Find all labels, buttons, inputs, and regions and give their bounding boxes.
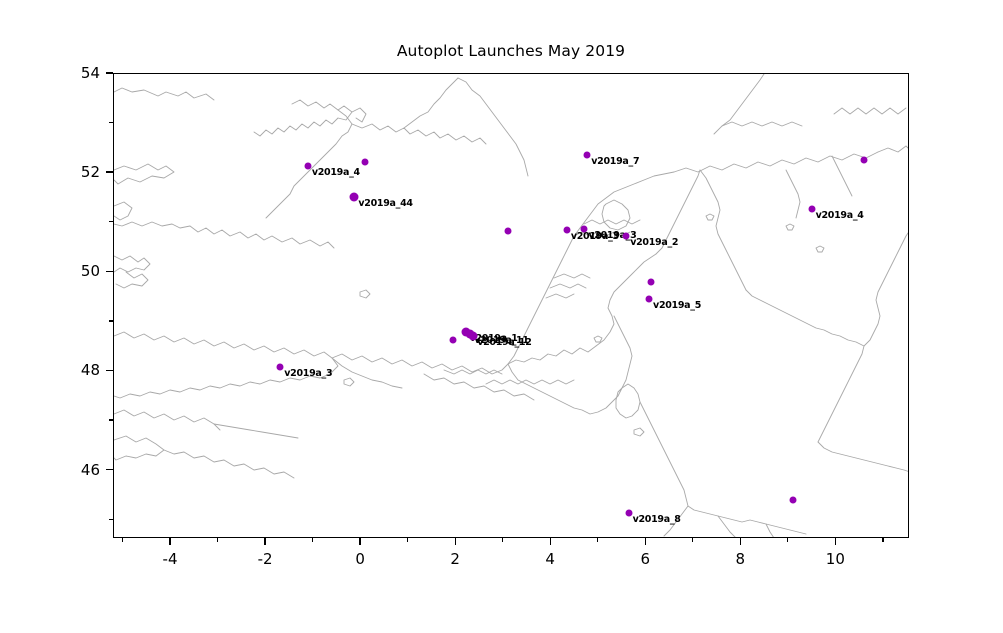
x-tick-minor (217, 538, 218, 542)
x-tick-minor (122, 538, 123, 542)
x-tick-major (550, 538, 551, 545)
x-tick-minor (407, 538, 408, 542)
x-tick-major (169, 538, 170, 545)
data-point-label: v2019a_44 (358, 198, 412, 209)
x-tick-major (645, 538, 646, 545)
y-tick-label: 48 (81, 361, 100, 379)
x-tick-label: 8 (736, 550, 746, 568)
y-tick-label: 52 (81, 163, 100, 181)
data-point-label: v2019a_8 (633, 514, 681, 525)
y-tick-label: 54 (81, 64, 100, 82)
y-tick-minor (109, 122, 113, 123)
y-tick-minor (109, 221, 113, 222)
x-tick-label: -4 (163, 550, 178, 568)
data-point-marker[interactable] (808, 206, 815, 213)
x-tick-label: 2 (450, 550, 460, 568)
data-point-marker[interactable] (860, 156, 867, 163)
data-point-marker[interactable] (623, 232, 630, 239)
data-point-label: v2019a_2 (630, 237, 678, 248)
x-tick-minor (787, 538, 788, 542)
data-point-marker[interactable] (505, 227, 512, 234)
figure-canvas: Autoplot Launches May 2019 (0, 0, 1003, 633)
y-tick-minor (109, 519, 113, 520)
x-tick-major (359, 538, 360, 545)
page-title: Autoplot Launches May 2019 (113, 42, 909, 60)
y-tick-label: 50 (81, 262, 100, 280)
x-tick-label: 0 (355, 550, 365, 568)
data-point-label: v2019a_12 (477, 337, 531, 348)
y-tick-major (106, 171, 113, 172)
x-tick-major (740, 538, 741, 545)
x-tick-label: 4 (545, 550, 555, 568)
y-tick-major (106, 271, 113, 272)
x-tick-minor (692, 538, 693, 542)
data-point-marker[interactable] (581, 226, 588, 233)
data-point-marker[interactable] (625, 510, 632, 517)
y-tick-minor (109, 320, 113, 321)
x-tick-label: 10 (826, 550, 845, 568)
data-point-marker[interactable] (789, 497, 796, 504)
data-point-marker[interactable] (304, 163, 311, 170)
y-tick-major (106, 370, 113, 371)
data-point-marker[interactable] (361, 159, 368, 166)
data-point-label: v2019a_4 (312, 167, 360, 178)
data-point-marker[interactable] (449, 336, 456, 343)
x-tick-major (264, 538, 265, 545)
data-point-label: v2019a_5 (653, 300, 701, 311)
y-tick-minor (109, 419, 113, 420)
data-point-marker[interactable] (277, 363, 284, 370)
data-point-label: v2019a_4 (816, 210, 864, 221)
map-axes (113, 73, 909, 538)
x-tick-minor (312, 538, 313, 542)
y-tick-label: 46 (81, 461, 100, 479)
x-tick-label: 6 (640, 550, 650, 568)
data-point-marker[interactable] (646, 295, 653, 302)
x-tick-major (835, 538, 836, 545)
coastline-map (114, 74, 909, 538)
x-tick-major (455, 538, 456, 545)
data-point-label: v2019a_7 (591, 156, 639, 167)
data-point-marker[interactable] (584, 151, 591, 158)
data-point-marker[interactable] (648, 279, 655, 286)
x-tick-minor (882, 538, 883, 542)
data-point-marker[interactable] (563, 227, 570, 234)
y-tick-major (106, 469, 113, 470)
x-tick-minor (502, 538, 503, 542)
y-tick-major (106, 72, 113, 73)
x-tick-label: -2 (258, 550, 273, 568)
data-point-label: v2019a_3 (284, 368, 332, 379)
x-tick-minor (597, 538, 598, 542)
